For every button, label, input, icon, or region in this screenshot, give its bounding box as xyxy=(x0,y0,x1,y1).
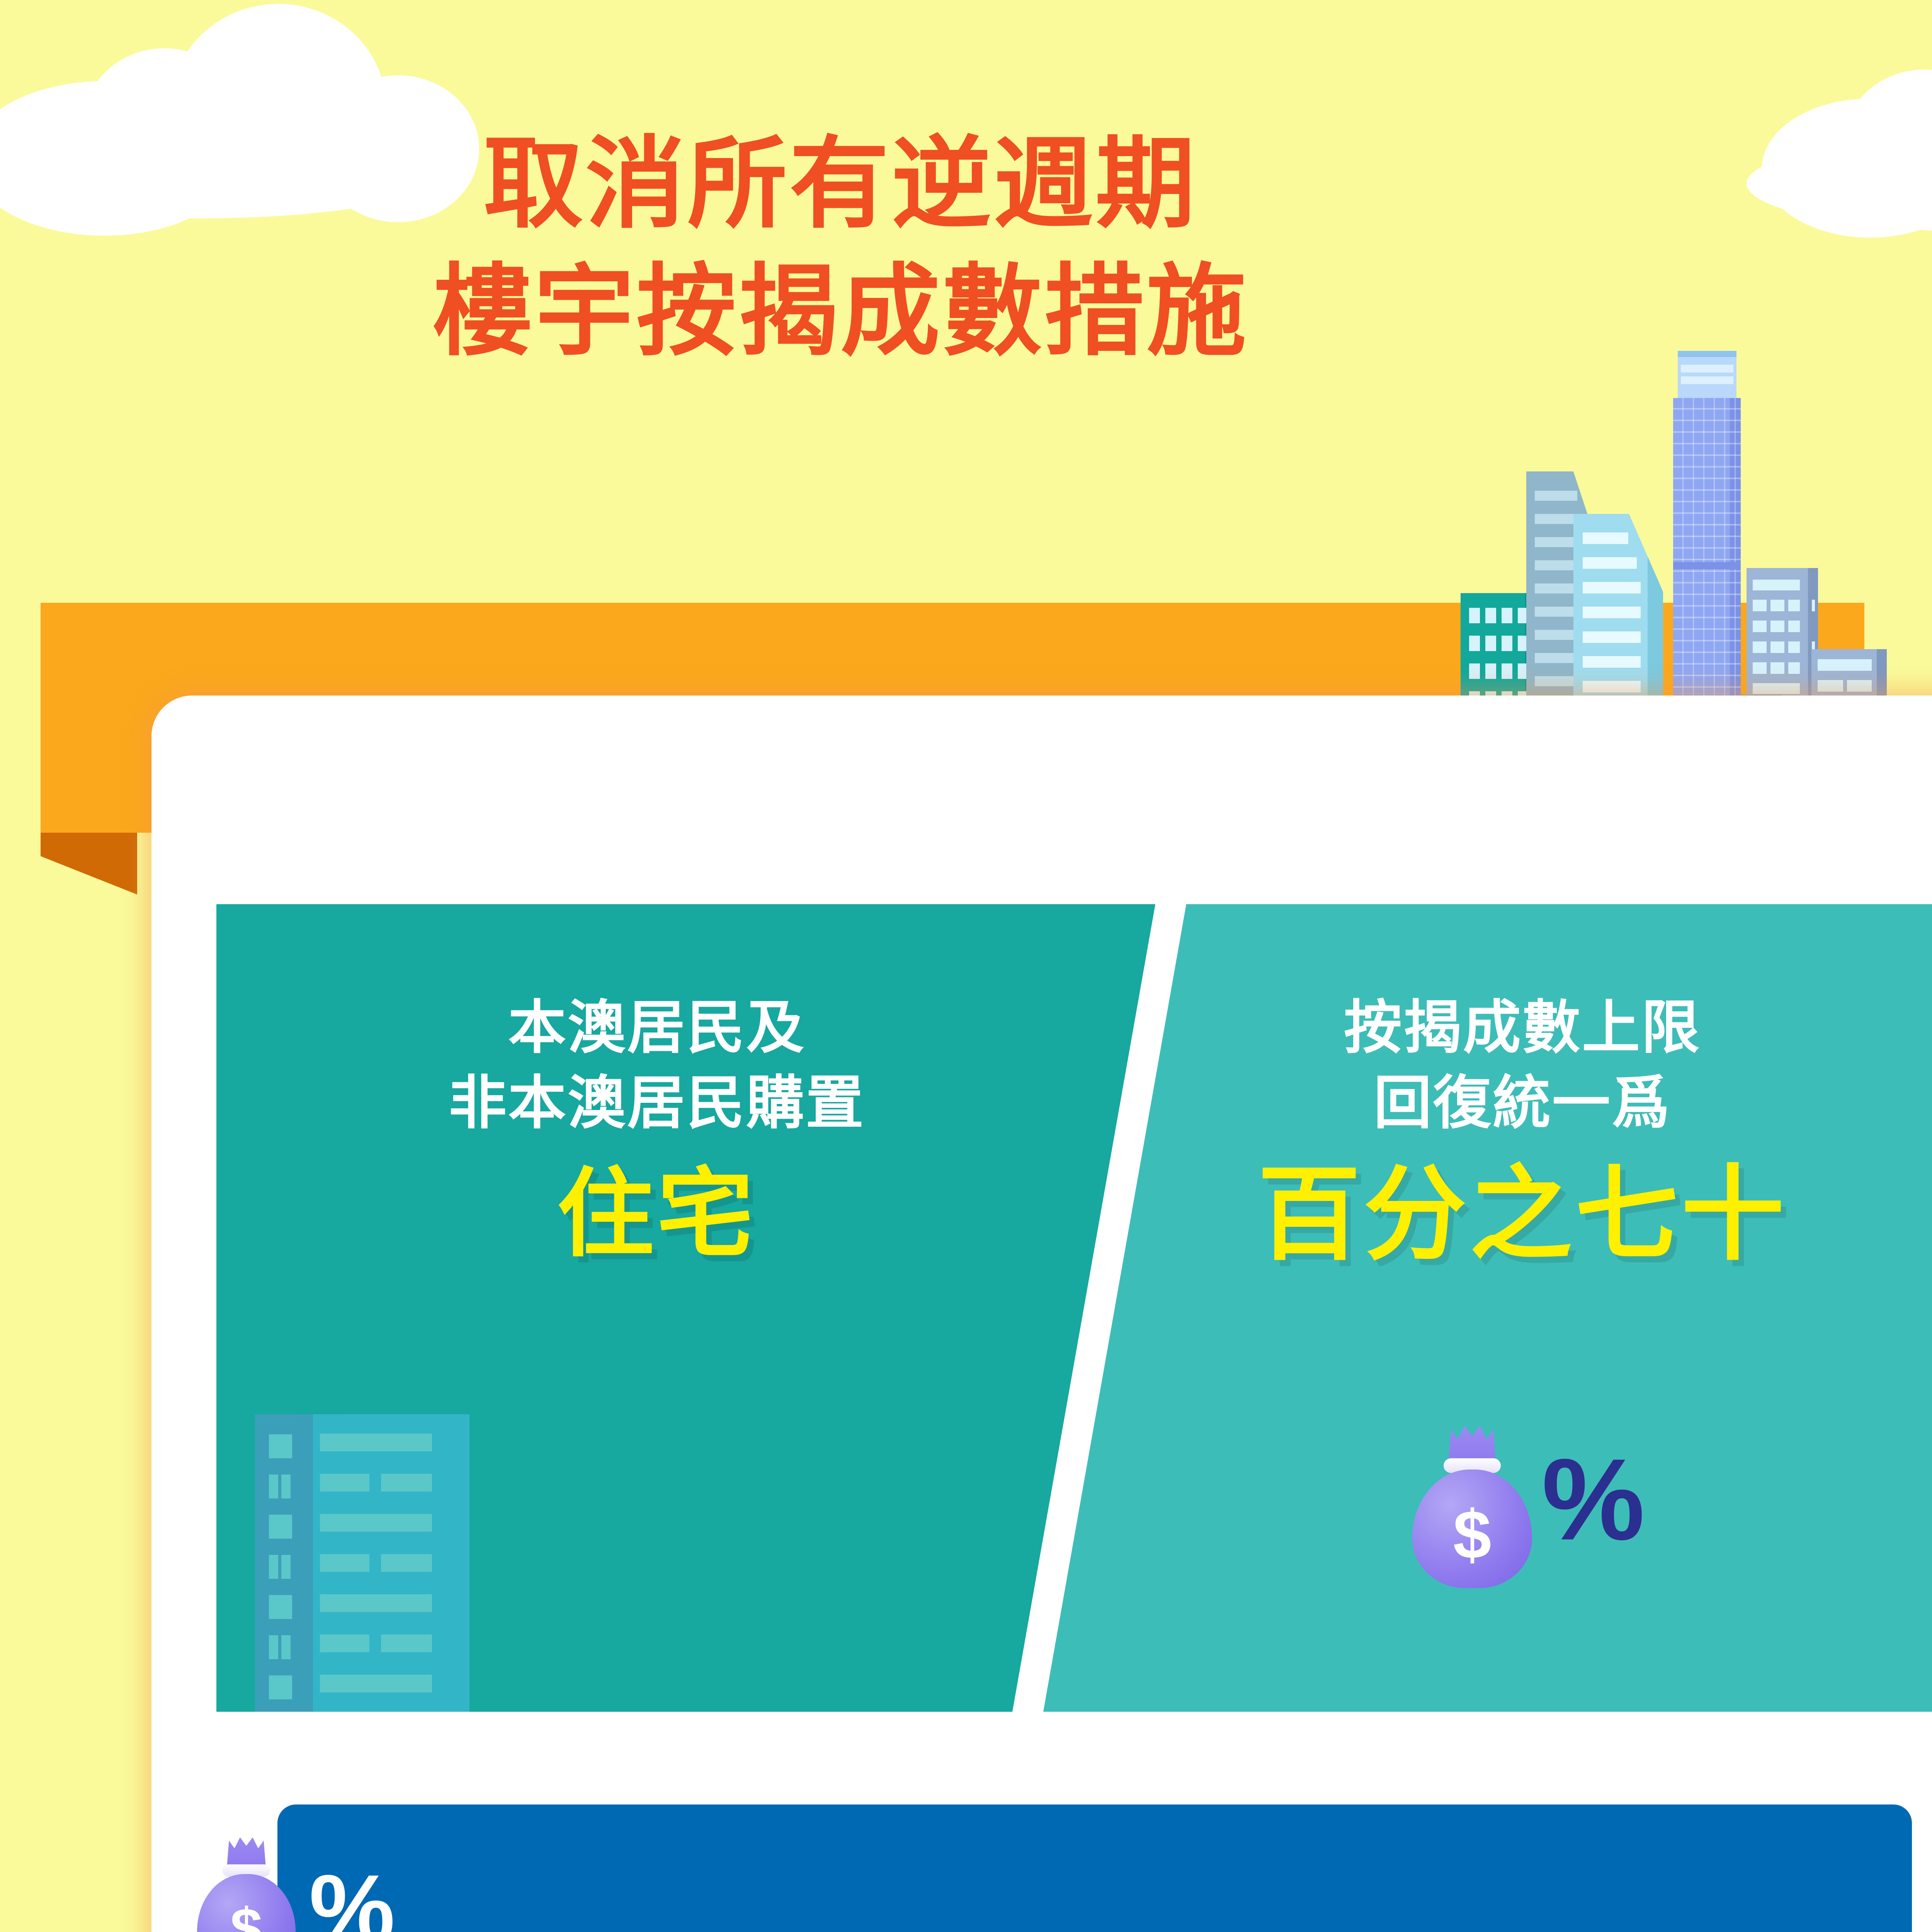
panel-right-text: 按揭成數上限 回復統一爲 百分之七十 xyxy=(1105,990,1932,1272)
panel-right-highlight: 百分之七十 xyxy=(1105,1158,1932,1272)
title-line-1: 取消所有逆週期 xyxy=(0,120,1681,247)
panel-left-highlight: 住宅 xyxy=(216,1161,1097,1267)
title-line-2: 樓宇按揭成數措施 xyxy=(0,247,1681,375)
money-bag-icon-note: $ xyxy=(197,1837,296,1932)
money-bag-icon-panel: $ xyxy=(1412,1426,1532,1588)
percent-symbol-note: % xyxy=(309,1861,395,1932)
note-bar-1 xyxy=(277,1804,1912,1932)
comparison-panel: 本澳居民及 非本澳居民購置 住宅 按揭成數上限 回復統一爲 百分之七十 xyxy=(216,904,1932,1712)
cloud-right xyxy=(1762,27,1932,158)
panel-left-text: 本澳居民及 非本澳居民購置 住宅 xyxy=(216,990,1097,1267)
panel-right-heading-1: 按揭成數上限 xyxy=(1105,990,1932,1065)
panel-left-heading-1: 本澳居民及 xyxy=(216,990,1097,1065)
percent-symbol-panel: % xyxy=(1542,1441,1645,1557)
panel-right-heading-2: 回復統一爲 xyxy=(1105,1065,1932,1141)
apartment-building-icon xyxy=(255,1403,469,1712)
poster-title: 取消所有逆週期 樓宇按揭成數措施 xyxy=(0,120,1681,375)
panel-left-heading-2: 非本澳居民購置 xyxy=(216,1065,1097,1141)
ribbon-fold xyxy=(41,833,137,895)
